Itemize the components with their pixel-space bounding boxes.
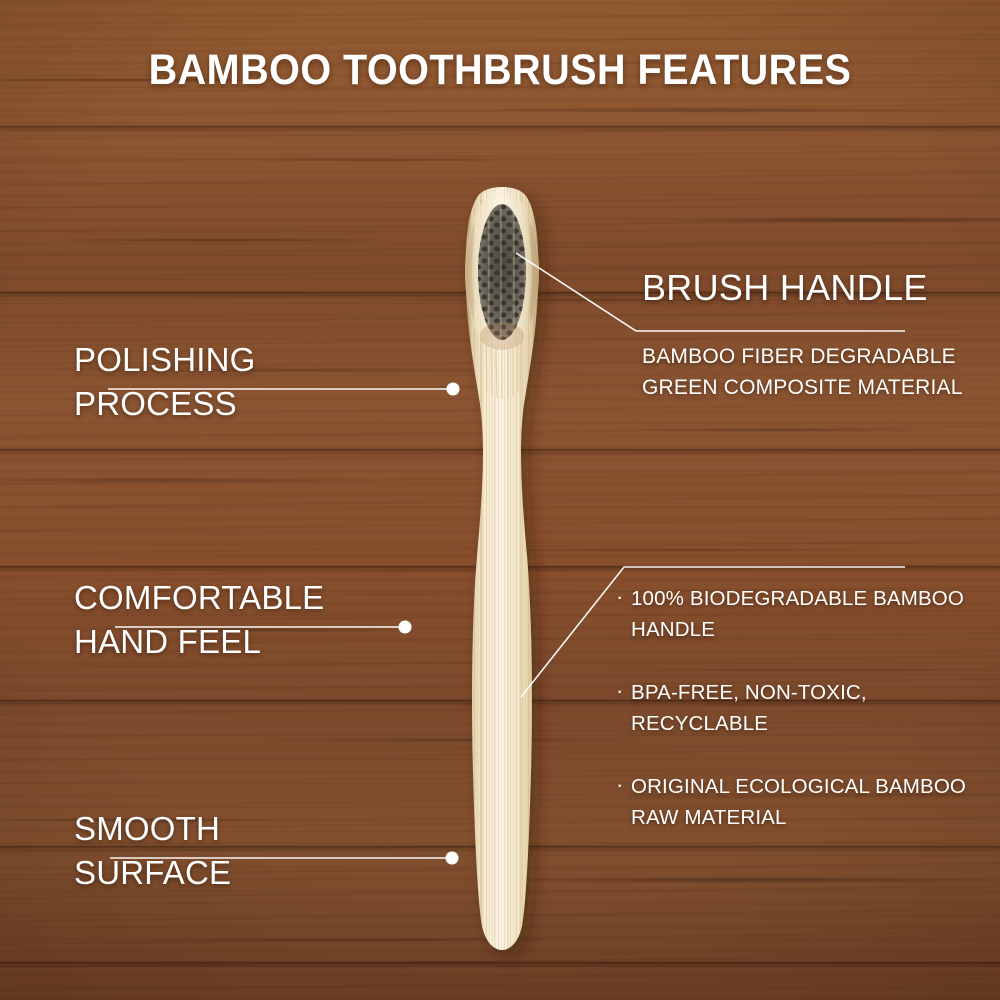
bullet-ecological: ORIGINAL ECOLOGICAL BAMBOO RAW MATERIAL (616, 771, 988, 833)
bamboo-toothbrush-infographic: BAMBOO TOOTHBRUSH FEATURES (0, 0, 1000, 1000)
bullet-biodegradable: 100% BIODEGRADABLE BAMBOO HANDLE (616, 583, 988, 645)
dot-comfortable (399, 621, 412, 634)
subtext-line: GREEN COMPOSITE MATERIAL (642, 372, 963, 403)
callout-line: SURFACE (74, 851, 231, 895)
dot-smooth (446, 852, 459, 865)
callout-line: COMFORTABLE (74, 576, 324, 620)
leader-dots (399, 383, 460, 865)
callout-polishing-process: POLISHING PROCESS (74, 338, 256, 426)
callout-brush-handle: BRUSH HANDLE (642, 266, 928, 310)
callout-comfortable-hand-feel: COMFORTABLE HAND FEEL (74, 576, 324, 664)
dot-polishing (447, 383, 460, 396)
feature-bullet-list: 100% BIODEGRADABLE BAMBOO HANDLE BPA-FRE… (616, 583, 988, 851)
callout-line: PROCESS (74, 382, 256, 426)
subtext-line: BAMBOO FIBER DEGRADABLE (642, 341, 963, 372)
callout-line: HAND FEEL (74, 620, 324, 664)
callout-line: POLISHING (74, 338, 256, 382)
bullet-bpa-free: BPA-FREE, NON-TOXIC, RECYCLABLE (616, 677, 988, 739)
brush-handle-heading: BRUSH HANDLE (642, 266, 928, 310)
callout-smooth-surface: SMOOTH SURFACE (74, 807, 231, 895)
callout-line: SMOOTH (74, 807, 231, 851)
brush-handle-subtext: BAMBOO FIBER DEGRADABLE GREEN COMPOSITE … (642, 341, 963, 403)
brush-head (462, 190, 542, 399)
